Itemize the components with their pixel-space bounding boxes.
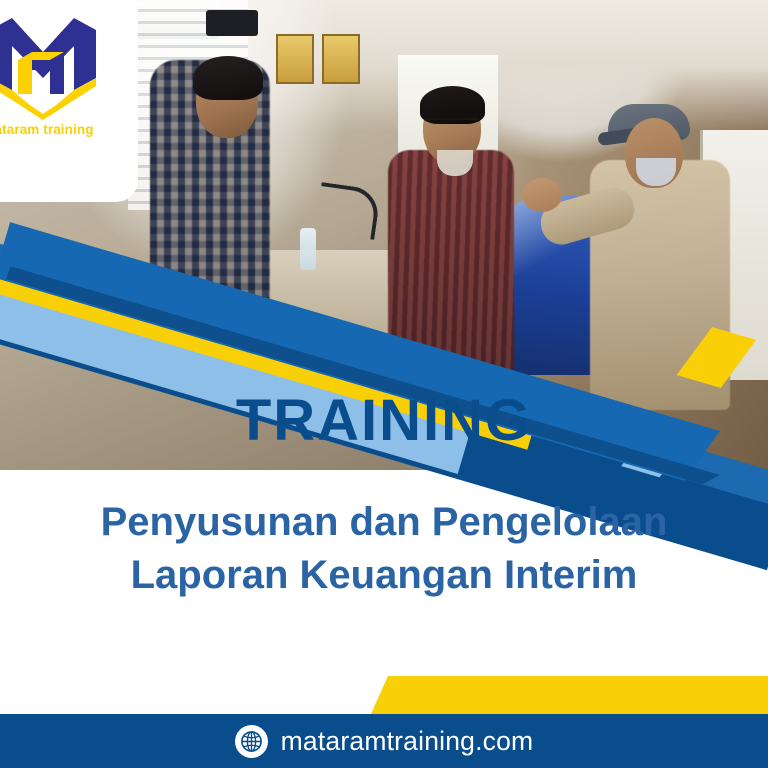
page-title: TRAINING: [0, 392, 768, 450]
wall-frame-left: [276, 34, 314, 84]
course-subtitle-line2: Laporan Keuangan Interim: [0, 549, 768, 602]
person-maroon-glasses: [424, 118, 480, 133]
person-plaid-hair: [193, 56, 263, 100]
mataram-isometric-m-logo: [0, 12, 98, 120]
course-subtitle: Penyusunan dan Pengelolaan Laporan Keuan…: [0, 496, 768, 602]
logo-panel: mataram training: [0, 0, 138, 202]
wall-frame-right: [322, 34, 360, 84]
course-subtitle-line1: Penyusunan dan Pengelolaan: [101, 500, 668, 544]
water-bottle: [300, 228, 316, 270]
globe-icon: [235, 725, 268, 758]
microphone: [315, 182, 381, 240]
logo-wordmark: mataram training: [0, 122, 106, 137]
person-beige-hand: [522, 178, 562, 212]
training-poster: mataram training TRAINING Penyusunan dan…: [0, 0, 768, 768]
wall-monitor: [206, 10, 258, 36]
website-url: mataramtraining.com: [281, 726, 534, 757]
footer-yellow-accent: [0, 676, 768, 716]
footer-bar: mataramtraining.com: [0, 714, 768, 768]
